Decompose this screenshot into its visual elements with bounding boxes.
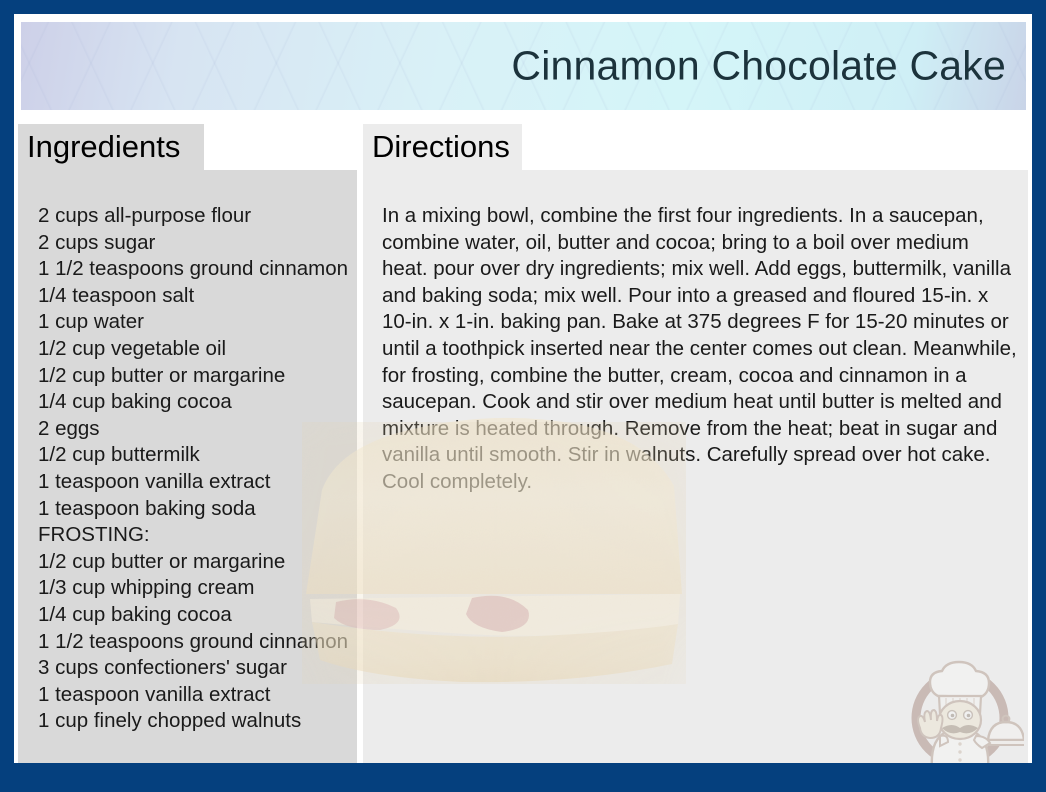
page-title: Cinnamon Chocolate Cake [511, 43, 1006, 90]
ingredient-item: 2 cups sugar [38, 230, 351, 257]
ingredient-item: 1 teaspoon vanilla extract [38, 469, 351, 496]
header-banner: Cinnamon Chocolate Cake [21, 22, 1026, 110]
directions-panel: In a mixing bowl, combine the first four… [363, 170, 1028, 763]
ingredients-list: 2 cups all-purpose flour2 cups sugar1 1/… [38, 203, 351, 735]
ingredient-item: 1/2 cup vegetable oil [38, 336, 351, 363]
ingredient-item: 3 cups confectioners' sugar [38, 655, 351, 682]
recipe-card-page: Cinnamon Chocolate Cake Ingredients Dire… [0, 0, 1046, 792]
ingredient-item: 1 teaspoon baking soda [38, 496, 351, 523]
directions-heading: Directions [363, 124, 522, 170]
ingredient-item: 2 cups all-purpose flour [38, 203, 351, 230]
ingredients-panel: 2 cups all-purpose flour2 cups sugar1 1/… [18, 170, 357, 763]
ingredients-heading-label: Ingredients [27, 129, 180, 165]
directions-heading-label: Directions [372, 129, 510, 165]
ingredient-item: 1/4 teaspoon salt [38, 283, 351, 310]
ingredients-heading: Ingredients [18, 124, 204, 170]
ingredient-item: 1 cup water [38, 309, 351, 336]
ingredient-item: 1/2 cup butter or margarine [38, 363, 351, 390]
ingredient-item: 1 teaspoon vanilla extract [38, 682, 351, 709]
ingredient-item: 1/4 cup baking cocoa [38, 602, 351, 629]
recipe-card: Cinnamon Chocolate Cake Ingredients Dire… [14, 14, 1032, 763]
ingredient-item: 1 1/2 teaspoons ground cinnamon [38, 629, 351, 656]
ingredient-item: 1/4 cup baking cocoa [38, 389, 351, 416]
ingredient-item: 1 1/2 teaspoons ground cinnamon [38, 256, 351, 283]
ingredient-item: 1/3 cup whipping cream [38, 575, 351, 602]
ingredient-item: FROSTING: [38, 522, 351, 549]
ingredient-item: 1/2 cup buttermilk [38, 442, 351, 469]
directions-body: In a mixing bowl, combine the first four… [382, 203, 1020, 496]
ingredient-item: 1 cup finely chopped walnuts [38, 708, 351, 735]
ingredient-item: 1/2 cup butter or margarine [38, 549, 351, 576]
ingredient-item: 2 eggs [38, 416, 351, 443]
